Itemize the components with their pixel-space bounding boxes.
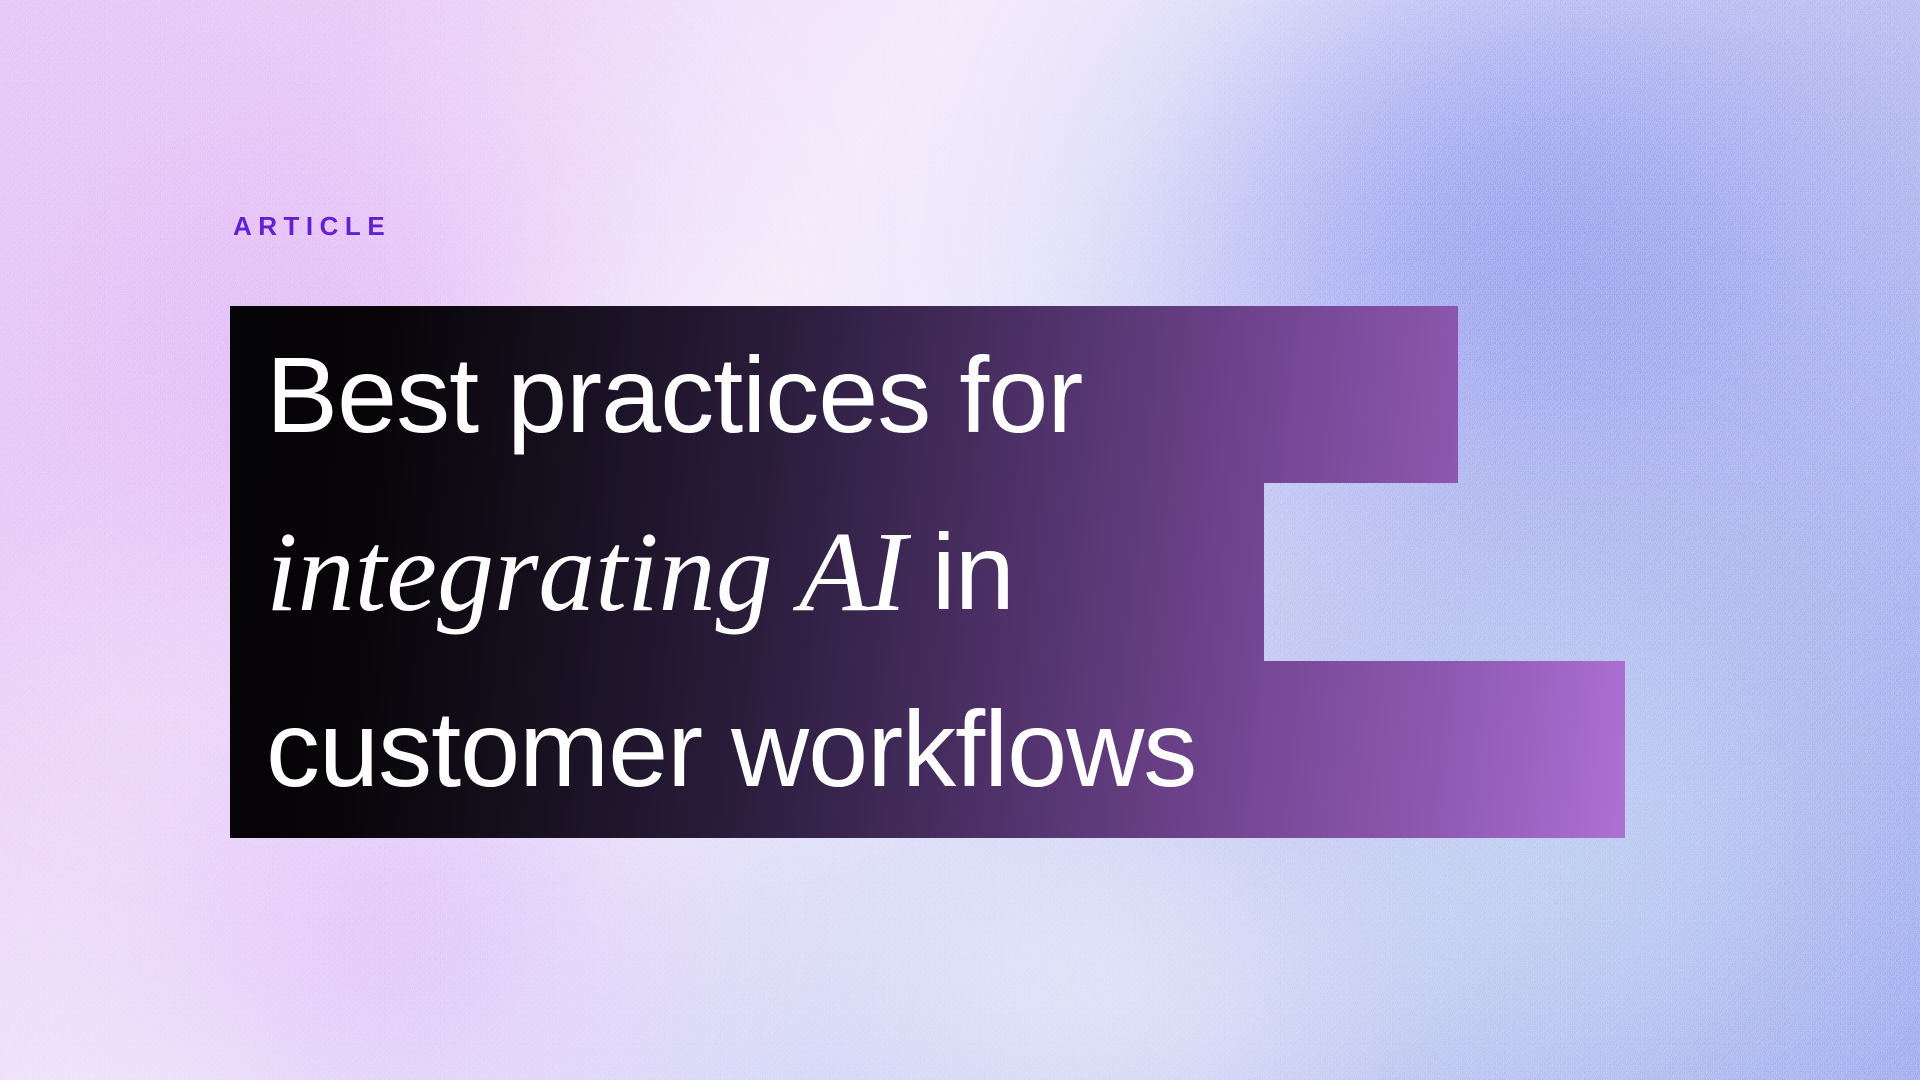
headline-emphasis-integrating-ai: integrating AI — [266, 515, 932, 629]
headline-line-2-trailing: in — [932, 518, 1014, 626]
headline-line-2: integrating AIin — [266, 483, 1014, 660]
headline-band-1: Best practices for — [230, 306, 1458, 483]
headline-band-2: integrating AIin — [230, 483, 1264, 660]
headline-banner: Best practices for integrating AIin cust… — [230, 306, 1625, 838]
headline-band-3: customer workflows — [230, 661, 1625, 838]
headline-line-3: customer workflows — [266, 661, 1196, 838]
eyebrow-label: ARTICLE — [233, 213, 391, 239]
headline-line-1: Best practices for — [266, 306, 1082, 483]
hero-canvas: ARTICLE Best practices for integrating A… — [0, 0, 1920, 1080]
